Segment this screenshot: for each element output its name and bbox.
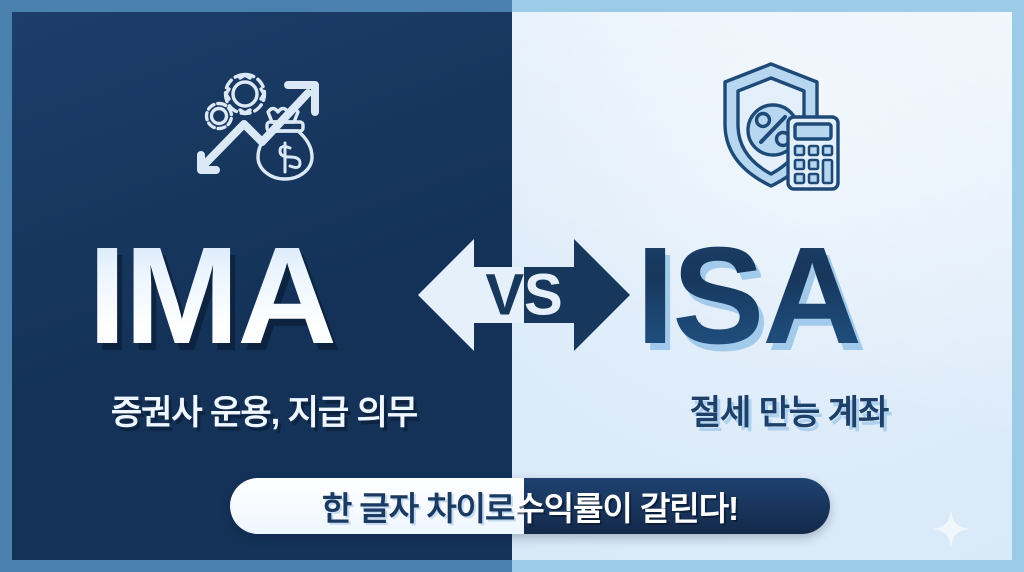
banner-segment-dark: 수익률이 갈린다! — [514, 482, 738, 530]
growth-gears-moneybag-icon — [187, 54, 337, 199]
content-stage: IMA ISA VS VS 증권사 운용, 지급 의무 절세 만능 계좌 — [12, 12, 1012, 560]
bottom-banner: 한 글자 차이로 수익률이 갈린다! — [230, 478, 830, 534]
headline-ima: IMA — [88, 226, 335, 366]
headline-isa: ISA — [636, 226, 860, 366]
double-arrow-vs-badge: VS VS — [418, 234, 630, 356]
thumbnail-canvas: IMA ISA VS VS 증권사 운용, 지급 의무 절세 만능 계좌 — [0, 0, 1024, 572]
banner-text: 한 글자 차이로 수익률이 갈린다! — [230, 478, 830, 534]
banner-segment-light: 한 글자 차이로 — [322, 482, 515, 530]
subtitle-isa: 절세 만능 계좌 — [624, 390, 954, 436]
subtitle-ima: 증권사 운용, 지급 의무 — [44, 390, 484, 436]
shield-percent-calculator-icon — [705, 54, 855, 199]
sparkle-icon — [932, 510, 970, 548]
